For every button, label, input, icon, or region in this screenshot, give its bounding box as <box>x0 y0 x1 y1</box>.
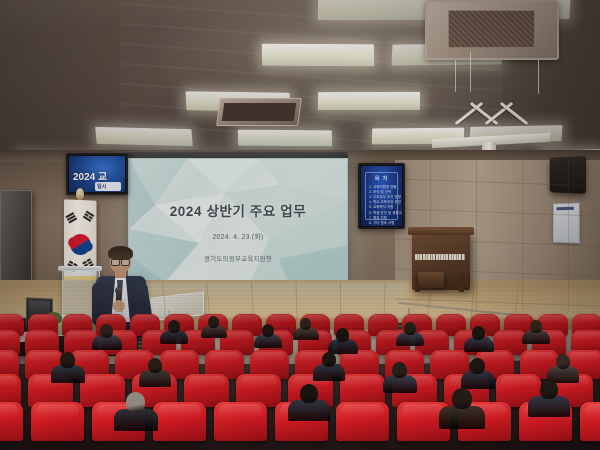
audience-member-shoulders <box>114 409 158 431</box>
stage-plank <box>0 311 600 312</box>
audience-member-head <box>540 380 558 399</box>
auditorium-seat[interactable] <box>31 402 84 441</box>
audience-member-head <box>168 320 180 333</box>
stage-plank <box>0 287 600 288</box>
audience-member-shoulders <box>439 406 485 429</box>
audience-member-head <box>262 324 274 337</box>
stage-plank <box>0 292 600 293</box>
monitor-right-screen: 목 차 1. 교육지원청 현황2. 조직 및 인력3. 주요업무 추진 방향4.… <box>361 166 402 226</box>
audience-seating <box>0 318 600 450</box>
audience-member-head <box>452 388 472 409</box>
glasses-icon <box>111 259 130 264</box>
auditorium-photo: 2024 상반기 주요 업무 2024. 4. 23.(화) 경기도의정부교육지… <box>0 0 600 450</box>
audience-member-head <box>336 328 349 342</box>
audience-member-head <box>148 358 162 373</box>
slide-date: 2024. 4. 23.(화) <box>129 232 347 242</box>
stage-plank <box>0 308 600 309</box>
stage-plank <box>0 285 600 286</box>
audience-member-head <box>60 352 75 368</box>
wall-seam-vertical <box>568 160 569 310</box>
audience-member-head <box>100 324 113 338</box>
stage-plank <box>0 282 600 283</box>
audience-member-shoulders <box>288 400 330 421</box>
projector-hanger-wire <box>455 60 456 92</box>
wall-notice-poster <box>553 202 580 243</box>
audience-member-head <box>530 320 542 333</box>
presenter-hair <box>108 246 133 260</box>
auditorium-seat[interactable] <box>336 402 389 441</box>
monitor-left-badge-label: 일시 <box>97 183 106 190</box>
stage-plank <box>0 295 600 296</box>
stage-plank <box>0 300 600 301</box>
agenda-item: 8. 기타 협조 사항 <box>369 220 394 225</box>
monitor-left-headline: 2024 교 <box>73 168 107 183</box>
wall-seam-vertical <box>522 160 523 310</box>
monitor-left-badge: 일시 <box>95 182 121 191</box>
wall-speaker-left <box>0 190 32 284</box>
audience-member-head <box>556 354 570 369</box>
audience-member-head <box>208 316 219 328</box>
audience-member-head <box>392 362 407 378</box>
slide-title: 2024 상반기 주요 업무 <box>129 200 347 220</box>
scissor-arm <box>470 102 499 125</box>
stage-plank <box>0 305 600 306</box>
ceiling-vent-secondary <box>216 98 302 126</box>
monitor-right: 목 차 1. 교육지원청 현황2. 조직 및 인력3. 주요업무 추진 방향4.… <box>358 163 405 229</box>
audience-member-head <box>300 318 311 330</box>
piano-bench <box>418 272 444 288</box>
audience-member-head <box>470 358 485 374</box>
taeguk-symbol <box>66 230 94 259</box>
audience-member-shoulders <box>528 396 570 417</box>
scissor-arm <box>455 102 484 125</box>
audience-member-head <box>126 392 145 412</box>
monitor-left-screen: 2024 교 일시 <box>69 156 125 192</box>
air-conditioner-grille <box>448 10 535 48</box>
piano-keys <box>415 254 465 260</box>
audience-member-head <box>300 384 318 403</box>
projection-screen: 2024 상반기 주요 업무 2024. 4. 23.(화) 경기도의정부교육지… <box>128 158 348 286</box>
auditorium-seat[interactable] <box>214 402 267 441</box>
audience-member-head <box>472 326 485 340</box>
monitor-left: 2024 교 일시 <box>66 153 128 195</box>
slide-organization: 경기도의정부교육지원청 <box>129 253 347 263</box>
stage-plank <box>0 298 600 299</box>
scissor-lift-mount <box>452 92 522 138</box>
scissor-arm <box>500 102 529 125</box>
scissor-arm <box>485 102 514 125</box>
stage-plank <box>0 290 600 291</box>
trigram-geon <box>65 212 77 224</box>
auditorium-seat[interactable] <box>580 402 600 441</box>
piano-top <box>408 227 474 235</box>
auditorium-seat[interactable] <box>0 402 23 441</box>
projector-hanger-wire <box>538 60 539 94</box>
auditorium-seat[interactable] <box>153 402 206 441</box>
wall-seam-vertical <box>430 160 431 310</box>
wall-seam-vertical <box>476 160 477 310</box>
trigram-ri <box>82 211 94 223</box>
audience-member-head <box>322 352 336 367</box>
audience-member-head <box>404 322 416 335</box>
projector-hanger-wire <box>470 52 471 92</box>
